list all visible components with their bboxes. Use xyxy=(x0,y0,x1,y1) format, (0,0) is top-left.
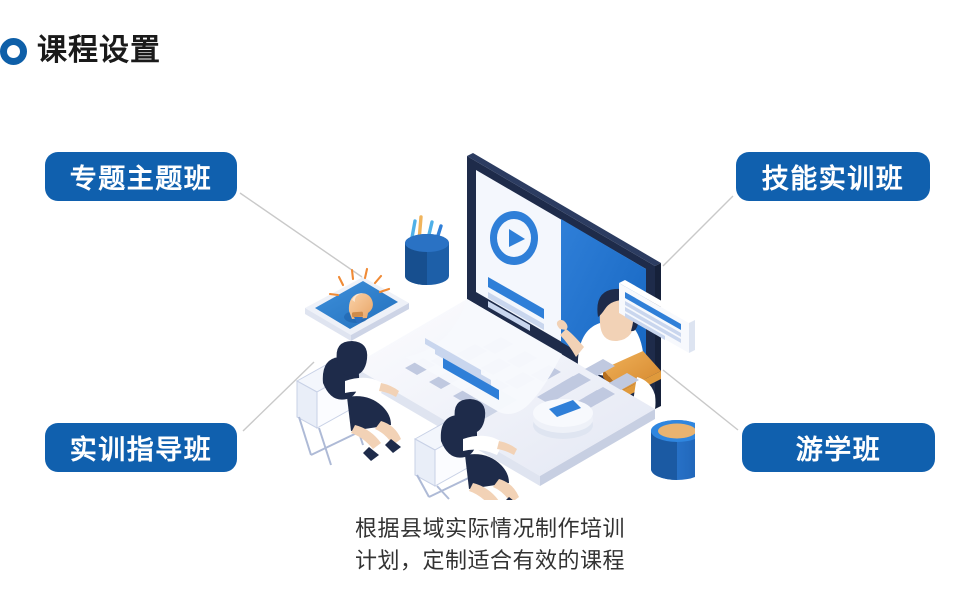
caption-line-2: 计划，定制适合有效的课程 xyxy=(0,545,980,577)
badge-bottomleft[interactable]: 实训指导班 xyxy=(45,423,237,472)
mouse xyxy=(533,399,593,439)
badge-bottomright[interactable]: 游学班 xyxy=(742,423,935,472)
caption-block: 根据县域实际情况制作培训 计划，定制适合有效的课程 xyxy=(0,513,980,577)
play-button-icon xyxy=(490,211,538,265)
caption-line-1: 根据县域实际情况制作培训 xyxy=(0,513,980,545)
slide-canvas: 课程设置 专题主题班 技能实训班 实训指导班 游学班 xyxy=(0,0,980,613)
pen-holder xyxy=(405,217,449,285)
tablet-with-lightbulb xyxy=(305,269,409,341)
badge-topleft[interactable]: 专题主题班 xyxy=(45,152,237,201)
page-header: 课程设置 xyxy=(0,36,161,66)
badge-topright[interactable]: 技能实训班 xyxy=(736,152,930,201)
page-title: 课程设置 xyxy=(37,36,161,66)
coffee-mug xyxy=(651,420,695,480)
isometric-online-classroom-illustration xyxy=(285,125,695,500)
ring-circle-icon xyxy=(0,38,27,65)
